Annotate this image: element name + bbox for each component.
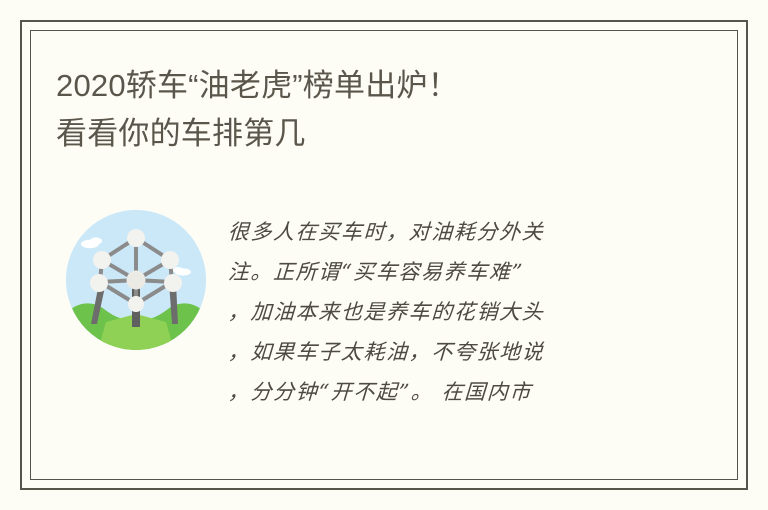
page-title: 2020轿车“油老虎”榜单出炉！ 看看你的车排第几 [56,62,696,158]
article-card: 2020轿车“油老虎”榜单出炉！ 看看你的车排第几 [0,0,768,510]
body-line: 很多人在买车时，对油耗分外关 [227,212,657,252]
body-line: ，加油本来也是养车的花销大头 [227,292,657,332]
atomium-illustration [66,210,206,350]
body-line: ，如果车子太耗油，不夸张地说 [227,332,657,372]
title-line-2: 看看你的车排第几 [56,110,696,158]
title-line-1: 2020轿车“油老虎”榜单出炉！ [56,62,696,110]
body-line: 注。正所谓“买车容易养车难” [227,252,657,292]
article-body: 很多人在买车时，对油耗分外关 注。正所谓“买车容易养车难” ，加油本来也是养车的… [228,212,656,412]
body-line: ，分分钟“开不起”。 在国内市 [227,372,657,412]
article-thumbnail [66,210,206,350]
